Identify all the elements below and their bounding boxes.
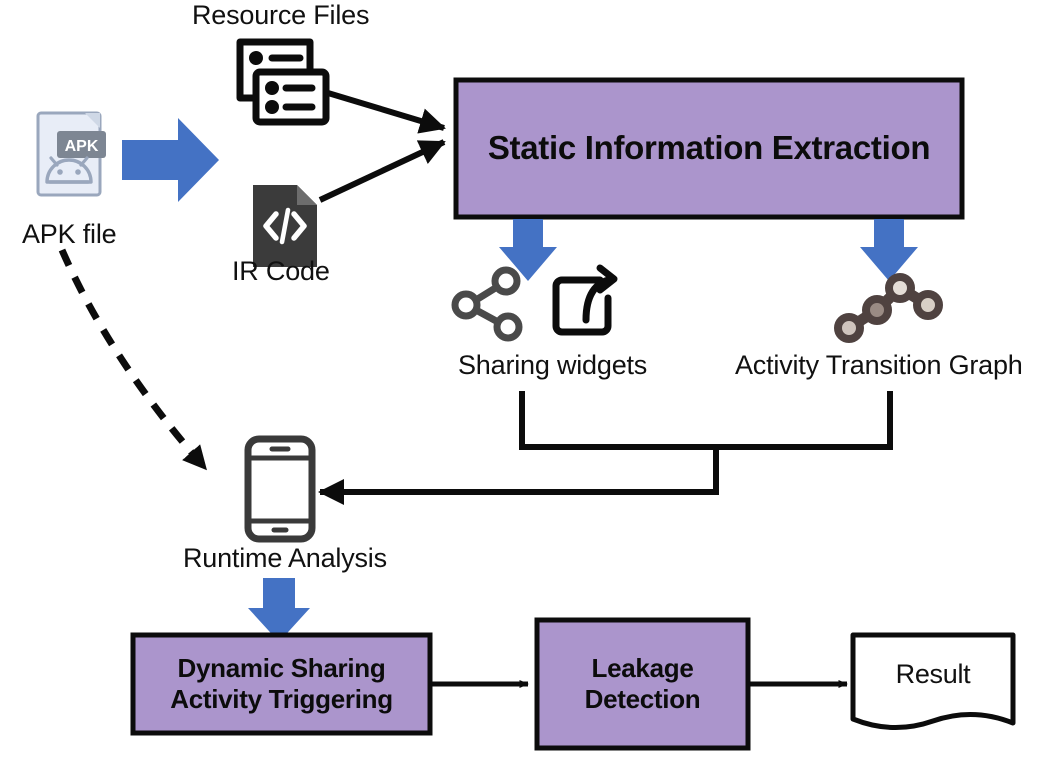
svg-text:APK: APK — [65, 138, 99, 155]
leakage-detection-line1: Leakage — [592, 653, 694, 684]
share-arrow-icon — [556, 268, 614, 332]
graph-nodes-icon — [838, 277, 939, 339]
apk-file-label: APK file — [22, 219, 116, 250]
leakage-detection-label: Leakage Detection — [537, 620, 748, 748]
runtime-to-dynamic-blue-arrow — [248, 578, 310, 642]
apk-file-icon: APK — [38, 113, 106, 195]
apk-to-runtime-dashed-arrow — [62, 250, 205, 468]
ir-code-label: IR Code — [232, 256, 330, 287]
sharing-widgets-label: Sharing widgets — [458, 350, 647, 381]
ircode-to-static-arrow — [320, 142, 444, 200]
dynamic-trigger-line2: Activity Triggering — [170, 684, 393, 715]
diagram-canvas: APK — [0, 0, 1048, 757]
share-nodes-icon — [455, 270, 519, 338]
resource-files-icon — [240, 42, 326, 122]
result-label: Result — [853, 635, 1013, 715]
dynamic-trigger-line1: Dynamic Sharing — [178, 653, 386, 684]
apk-to-extraction-blue-arrow — [122, 118, 219, 202]
runtime-analysis-label: Runtime Analysis — [183, 543, 387, 574]
smartphone-icon — [248, 439, 312, 539]
static-to-atg-blue-arrow — [860, 219, 918, 281]
ir-code-icon — [253, 185, 317, 267]
merge-connector-to-runtime — [320, 391, 890, 492]
static-extraction-label: Static Information Extraction — [456, 80, 962, 217]
dynamic-trigger-label: Dynamic Sharing Activity Triggering — [133, 635, 430, 733]
activity-transition-graph-label: Activity Transition Graph — [735, 350, 1023, 381]
resource-files-label: Resource Files — [192, 0, 369, 31]
resource-to-static-arrow — [328, 93, 444, 128]
leakage-detection-line2: Detection — [585, 684, 701, 715]
